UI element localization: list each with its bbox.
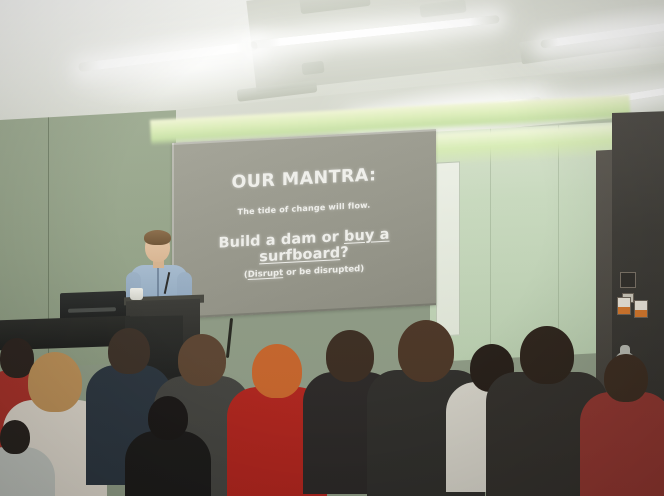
- audience: [0, 300, 664, 496]
- drinking-cup: [130, 288, 143, 300]
- audience-head: [28, 352, 82, 412]
- audience-head: [252, 344, 302, 398]
- presenter-hair: [144, 230, 171, 245]
- photo-scene: OUR MANTRA: The tide of change will flow…: [0, 0, 664, 496]
- audience-torso: [580, 392, 664, 496]
- slide-footer-underlined: Disrupt: [248, 268, 283, 280]
- audience-head: [0, 420, 30, 454]
- audience-head: [604, 354, 648, 402]
- slide-content: OUR MANTRA: The tide of change will flow…: [172, 129, 436, 319]
- slide-title: OUR MANTRA:: [172, 162, 436, 196]
- projection-screen: OUR MANTRA: The tide of change will flow…: [172, 129, 436, 319]
- slide-footer-rest: or be disrupted): [283, 264, 364, 278]
- audience-head: [178, 334, 226, 386]
- audience-head: [398, 320, 454, 382]
- audience-head: [520, 326, 574, 384]
- wall-signage: [620, 272, 636, 288]
- slide-main-suffix: ?: [340, 245, 349, 261]
- audience-head: [108, 328, 150, 374]
- audience-torso: [125, 431, 211, 496]
- slide-subtitle: The tide of change will flow.: [172, 197, 436, 220]
- audience-head: [148, 396, 188, 440]
- audience-head: [326, 330, 374, 382]
